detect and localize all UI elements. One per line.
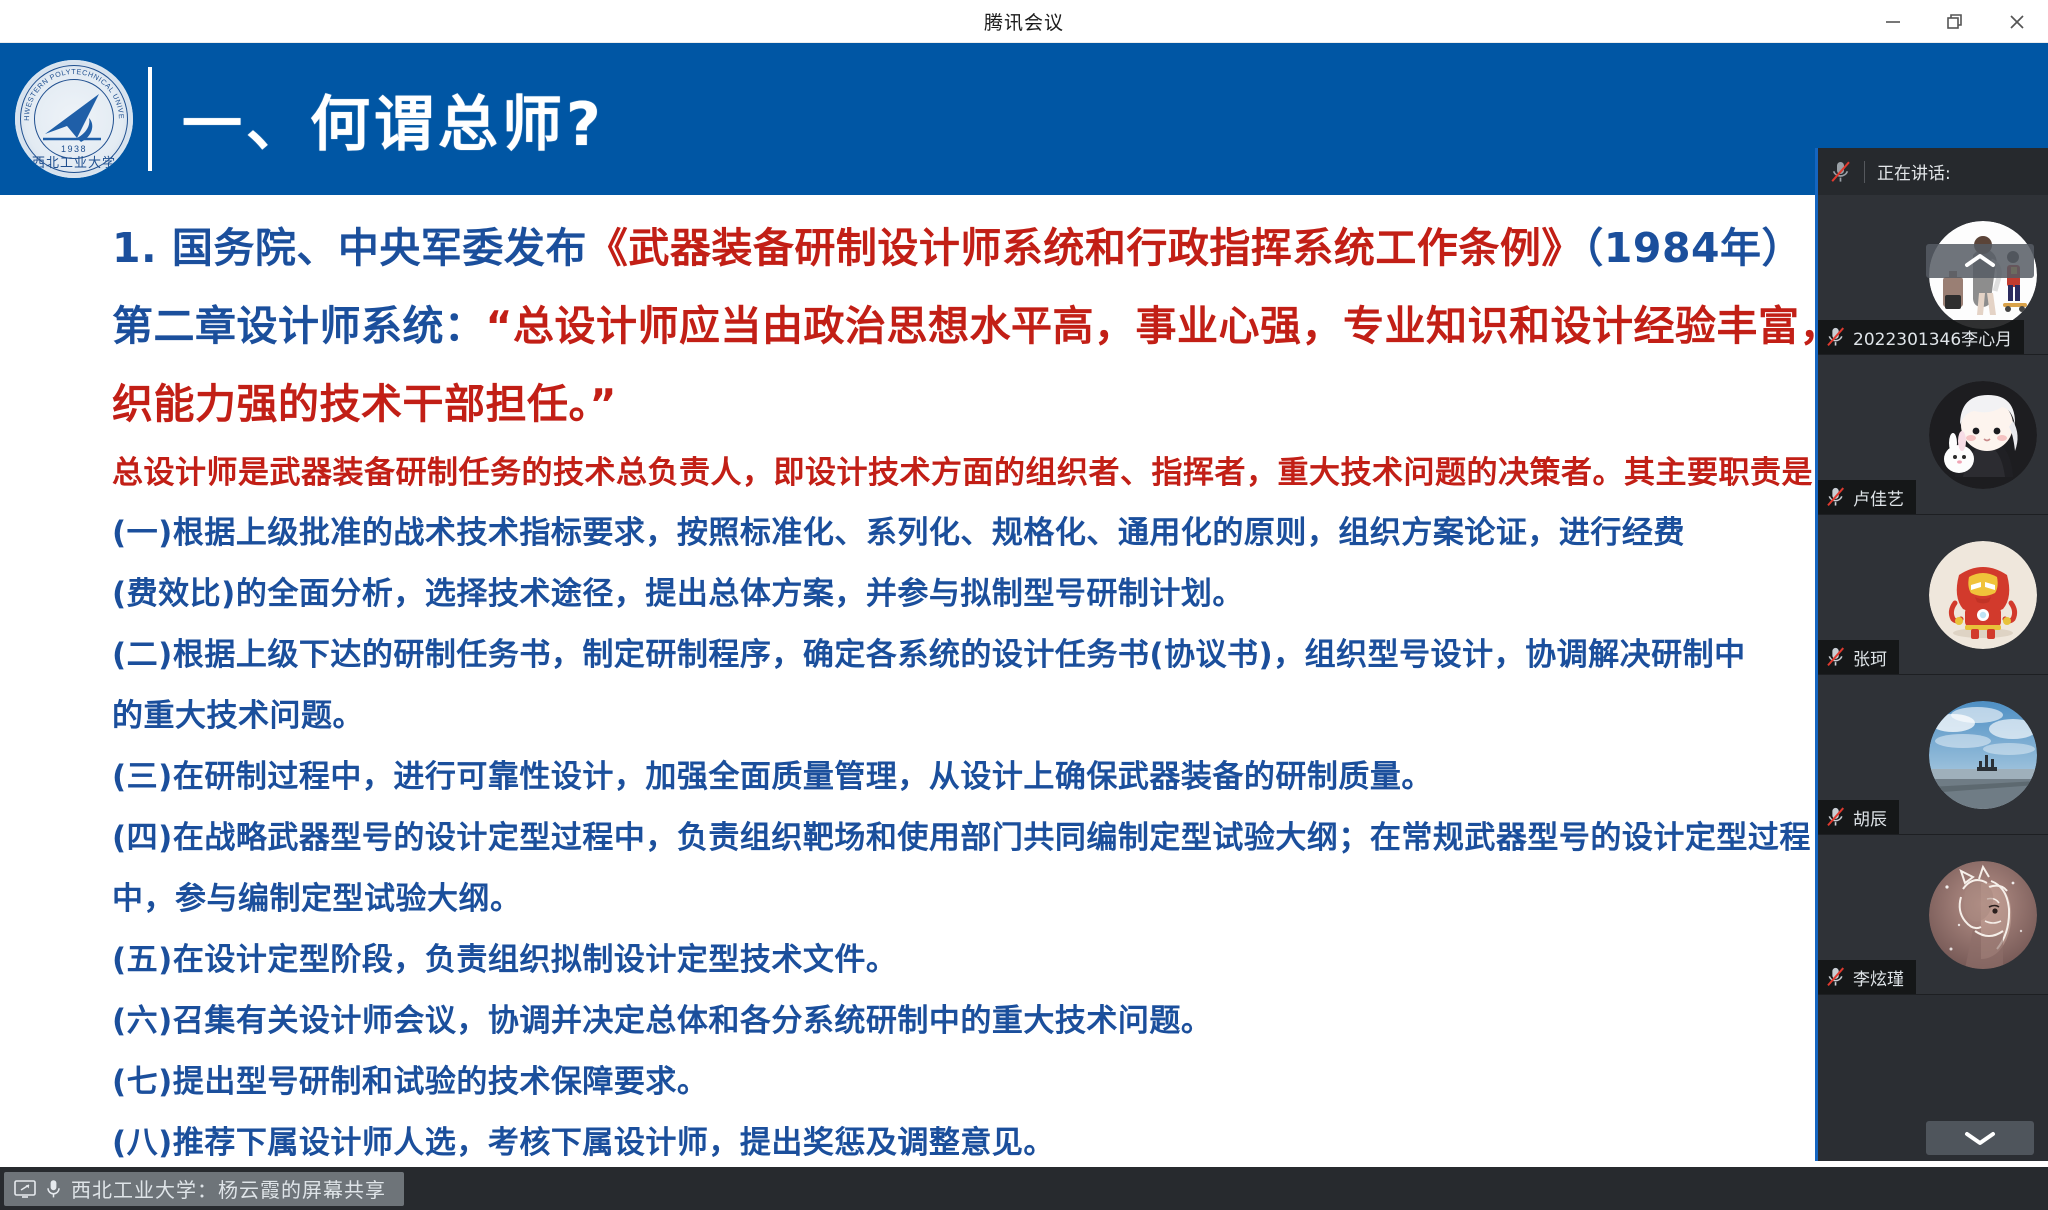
participant-tile[interactable]: 胡辰 [1818,675,2048,835]
restore-button[interactable] [1924,0,1986,43]
avatar [1929,541,2037,649]
participant-name: 胡辰 [1853,805,1887,830]
participant-name-pill: 胡辰 [1818,800,1899,834]
close-button[interactable] [1986,0,2048,43]
svg-text:西北工业大学: 西北工业大学 [32,155,116,171]
slide-text-line: 1. 国务院、中央军委发布《武器装备研制设计师系统和行政指挥系统工作条例》（19… [112,209,2048,287]
restore-icon [1944,11,1966,33]
mic-status-icon [1826,486,1846,508]
window-controls [1862,0,2048,43]
participant-name-pill: 2022301346李心月 [1818,320,2024,354]
slide-text-line: (六)召集有关设计师会议，协调并决定总体和各分系统研制中的重大技术问题。 [112,991,2048,1052]
slide-text-line: (四)在战略武器型号的设计定型过程中，负责组织靶场和使用部门共同编制定型试验大纲… [112,808,2048,869]
slide-text-line: 织能力强的技术干部担任。” [112,365,2048,443]
avatar [1929,861,2037,969]
microphone-muted-icon [1826,326,1846,348]
slide-text-line: (费效比)的全面分析，选择技术途径，提出总体方案，并参与拟制型号研制计划。 [112,564,2048,625]
microphone-muted-icon [1826,646,1846,668]
screen-share-icon [14,1180,36,1198]
slide-text-run: (二)根据上级下达的研制任务书，制定研制程序，确定各系统的设计任务书(协议书)，… [112,637,1746,673]
slide-text-run: (费效比)的全面分析，选择技术途径，提出总体方案，并参与拟制型号研制计划。 [112,576,1244,612]
avatar [1929,701,2037,809]
chevron-down-icon [1959,1129,2001,1147]
window-titlebar: 腾讯会议 [0,0,2048,43]
microphone-muted-icon [1830,160,1852,184]
participants-panel: 正在讲话: 2022301346李心月 [1815,148,2048,1161]
slide-text-run: （1984年） [1583,224,1803,272]
slide-text-run: 总设计师是武器装备研制任务的技术总负责人，即设计技术方面的组织者、指挥者，重大技… [112,455,1845,491]
speaking-now-header: 正在讲话: [1818,148,2048,195]
mic-status-icon [1826,326,1846,348]
speaking-now-label: 正在讲话: [1877,159,1951,184]
participant-name: 李炫瑾 [1853,965,1904,990]
slide-text-line: 第二章设计师系统：“总设计师应当由政治思想水平高，事业心强，专业知识和设计经验丰… [112,287,2048,365]
slide-text-run: (八)推荐下属设计师人选，考核下属设计师，提出奖惩及调整意见。 [112,1125,1055,1161]
slide-text-run: “总设计师应当由政治思想水平高，事业心强，专业知识和设计经验丰富，组 [486,302,1883,350]
slide-text-line: (三)在研制过程中，进行可靠性设计，加强全面质量管理，从设计上确保武器装备的研制… [112,747,2048,808]
participant-name: 张珂 [1853,645,1887,670]
logo-ring-text: NORTHWESTERN POLYTECHNICAL UNIVERSITY [15,60,126,121]
shared-screen-slide: NORTHWESTERN POLYTECHNICAL UNIVERSITY 19… [0,43,2048,1167]
slide-text-line: 的重大技术问题。 [112,686,2048,747]
slide-text-run: 的重大技术问题。 [112,698,364,734]
slide-text-line: 总设计师是武器装备研制任务的技术总负责人，即设计技术方面的组织者、指挥者，重大技… [112,443,2048,503]
slide-text-run: 《武器装备研制设计师系统和行政指挥系统工作条例》 [587,224,1583,272]
slide-text-run: 织能力强的技术干部担任。” [112,380,617,428]
slide-text-run: (六)召集有关设计师会议，协调并决定总体和各分系统研制中的重大技术问题。 [112,1003,1212,1039]
slide-text-run: (五)在设计定型阶段，负责组织拟制设计定型技术文件。 [112,942,897,978]
slide-text-run: (四)在战略武器型号的设计定型过程中，负责组织靶场和使用部门共同编制定型试验大纲… [112,820,1811,856]
microphone-muted-icon [1826,966,1846,988]
logo-year: 1938 [61,144,87,154]
slide-text-line: (七)提出型号研制和试验的技术保障要求。 [112,1052,2048,1113]
tencent-meeting-window: 腾讯会议 [0,0,2048,1210]
participant-name-pill: 李炫瑾 [1818,960,1916,994]
slide-text-run: (一)根据上级批准的战术技术指标要求，按照标准化、系列化、规格化、通用化的原则，… [112,515,1685,551]
scroll-down-button[interactable] [1926,1121,2034,1155]
mic-status-icon [1826,966,1846,988]
microphone-muted-icon [1826,486,1846,508]
mic-status-icon [1826,646,1846,668]
slide-text-run: 中，参与编制定型试验大纲。 [112,881,522,917]
avatar [1929,381,2037,489]
slide-header-band: NORTHWESTERN POLYTECHNICAL UNIVERSITY 19… [0,43,2048,195]
participant-name: 卢佳艺 [1853,485,1904,510]
slide-text-line: (八)推荐下属设计师人选，考核下属设计师，提出奖惩及调整意见。 [112,1113,2048,1167]
participant-tile[interactable]: 卢佳艺 [1818,355,2048,515]
slide-text-line: 中，参与编制定型试验大纲。 [112,869,2048,930]
slide-text-run: 1. 国务院、中央军委发布 [112,224,587,272]
svg-text:NORTHWESTERN POLYTECHNICAL UNI: NORTHWESTERN POLYTECHNICAL UNIVERSITY [15,60,126,121]
microphone-muted-icon [1826,806,1846,828]
participant-name-pill: 张珂 [1818,640,1899,674]
participant-tiles: 2022301346李心月 卢佳艺 [1818,195,2048,1161]
screen-share-label: 西北工业大学：杨云霞的屏幕共享 [71,1174,386,1203]
microphone-icon [46,1179,61,1199]
slide-text-run: (三)在研制过程中，进行可靠性设计，加强全面质量管理，从设计上确保武器装备的研制… [112,759,1433,795]
participant-name: 2022301346李心月 [1853,325,2012,350]
scroll-up-button[interactable] [1926,244,2034,278]
screen-share-status-bar: 西北工业大学：杨云霞的屏幕共享 [0,1167,2048,1210]
header-divider [148,67,152,171]
screen-share-pill[interactable]: 西北工业大学：杨云霞的屏幕共享 [4,1172,404,1206]
window-title: 腾讯会议 [984,8,1064,35]
slide-title: 一、何谓总师? [182,76,605,163]
participant-tile[interactable]: 张珂 [1818,515,2048,675]
minimize-icon [1882,11,1904,33]
chevron-up-icon [1959,252,2001,270]
participant-name-pill: 卢佳艺 [1818,480,1916,514]
minimize-button[interactable] [1862,0,1924,43]
slide-body: 1. 国务院、中央军委发布《武器装备研制设计师系统和行政指挥系统工作条例》（19… [0,195,2048,1167]
slide-text-line: (一)根据上级批准的战术技术指标要求，按照标准化、系列化、规格化、通用化的原则，… [112,503,2048,564]
university-logo: NORTHWESTERN POLYTECHNICAL UNIVERSITY 19… [0,43,148,195]
slide-text-line: (五)在设计定型阶段，负责组织拟制设计定型技术文件。 [112,930,2048,991]
mic-status-icon [1826,806,1846,828]
slide-text-run: 第二章设计师系统： [112,302,486,350]
slide-text-run: (七)提出型号研制和试验的技术保障要求。 [112,1064,708,1100]
slide-text-line: (二)根据上级下达的研制任务书，制定研制程序，确定各系统的设计任务书(协议书)，… [112,625,2048,686]
participant-tile[interactable]: 李炫瑾 [1818,835,2048,995]
close-icon [2006,11,2028,33]
nwpu-emblem-icon: NORTHWESTERN POLYTECHNICAL UNIVERSITY 19… [15,60,133,178]
header-separator [1864,161,1865,183]
